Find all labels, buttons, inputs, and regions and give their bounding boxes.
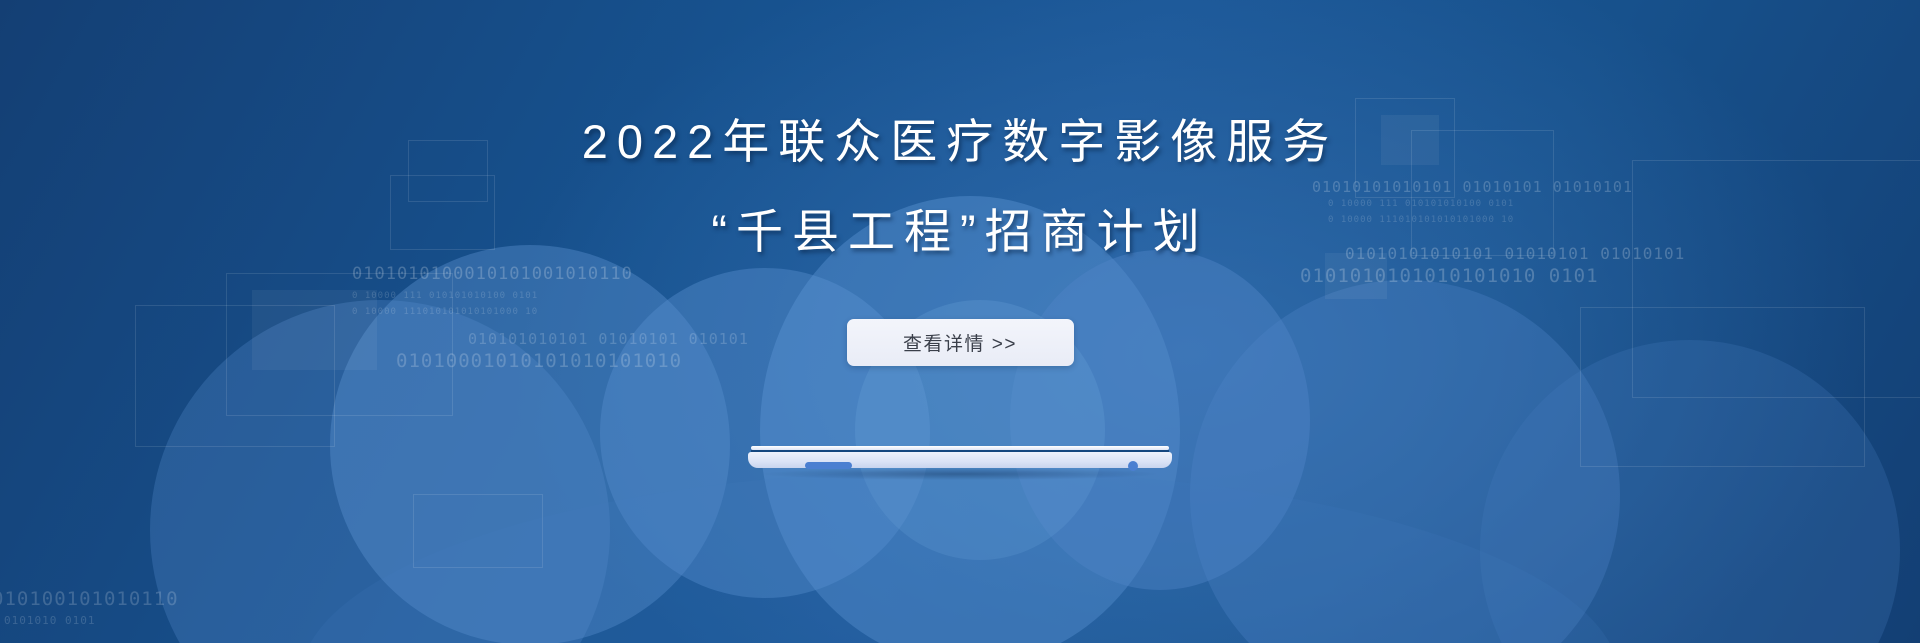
promo-banner: 0101010100010101001010110 0 10000 111 01… — [0, 0, 1920, 643]
view-details-button[interactable]: 查看详情 >> — [847, 319, 1074, 366]
banner-content: 2022年联众医疗数字影像服务 “千县工程”招商计划 查看详情 >> — [0, 0, 1920, 643]
banner-title-line-2: “千县工程”招商计划 — [711, 208, 1208, 255]
banner-title-line-1: 2022年联众医疗数字影像服务 — [582, 118, 1339, 165]
